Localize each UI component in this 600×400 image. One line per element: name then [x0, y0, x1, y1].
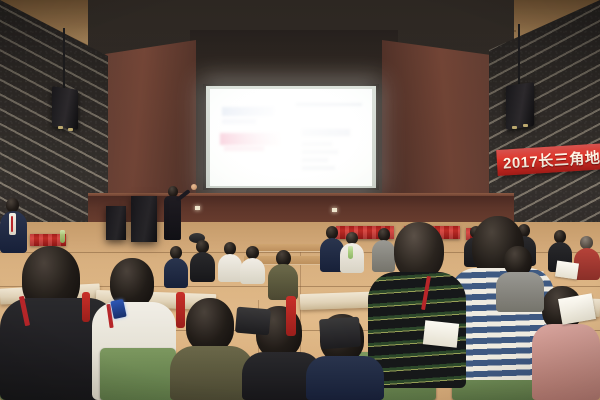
screen-overexposure	[210, 89, 372, 186]
torso	[372, 240, 395, 272]
torso	[190, 252, 215, 282]
backpack	[319, 317, 361, 350]
equipment-case	[106, 206, 126, 240]
speaker-mount-right	[518, 24, 520, 84]
backpack	[235, 307, 271, 336]
torso	[218, 254, 242, 282]
proscenium-right	[382, 40, 498, 198]
proscenium-header	[190, 30, 398, 84]
head	[6, 198, 19, 212]
conference-hall-photo: 2017长三角地区	[0, 0, 600, 400]
stage-edge-light	[195, 206, 200, 210]
speaker-terminal	[58, 126, 63, 129]
speaker-terminal	[523, 124, 528, 127]
torso	[164, 258, 188, 288]
torso	[240, 258, 265, 284]
water-bottle	[348, 246, 353, 259]
chair-leg	[286, 296, 296, 336]
torso	[496, 272, 544, 312]
notes-paper	[423, 320, 459, 347]
presenter-hand	[191, 184, 197, 190]
presenter-torso	[164, 196, 181, 240]
podium	[131, 196, 157, 242]
chair-leg	[176, 292, 185, 328]
chair	[100, 348, 176, 400]
torso	[306, 356, 384, 400]
speaker-terminal	[68, 128, 73, 131]
chair-leg	[82, 292, 90, 322]
speaker-mount-left	[63, 28, 65, 88]
stage-edge-light	[332, 208, 337, 212]
torso	[532, 324, 600, 400]
lanyard	[11, 216, 13, 232]
wall-speaker-left	[52, 86, 78, 130]
head	[186, 298, 234, 352]
projection-screen	[210, 89, 372, 186]
wall-speaker-right	[506, 82, 534, 130]
speaker-terminal	[512, 126, 517, 129]
handout-paper	[555, 261, 579, 280]
water-bottle	[60, 230, 65, 243]
torso	[268, 264, 298, 300]
